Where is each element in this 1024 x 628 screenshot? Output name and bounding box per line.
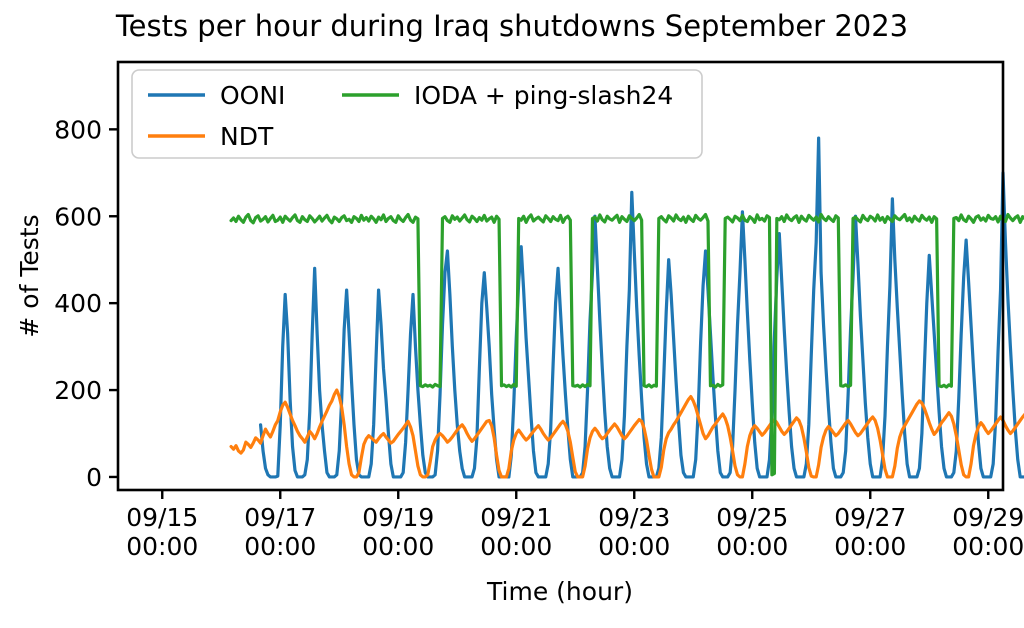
x-tick-label-date: 09/19 bbox=[362, 503, 434, 532]
plot-area: 0200400600800 09/1500:0009/1700:0009/190… bbox=[0, 0, 1024, 628]
x-tick-label-date: 09/27 bbox=[834, 503, 906, 532]
y-axis-title: # of Tests bbox=[15, 214, 44, 337]
legend-label-ioda: IODA + ping-slash24 bbox=[414, 81, 673, 110]
x-tick-label-date: 09/25 bbox=[716, 503, 788, 532]
x-tick-label-time: 00:00 bbox=[244, 532, 316, 561]
x-tick-label-time: 00:00 bbox=[480, 532, 552, 561]
y-tick-label: 400 bbox=[54, 289, 102, 318]
y-tick-label: 0 bbox=[86, 463, 102, 492]
x-tick-label-time: 00:00 bbox=[952, 532, 1024, 561]
x-tick-label-time: 00:00 bbox=[834, 532, 906, 561]
x-tick-label-time: 00:00 bbox=[362, 532, 434, 561]
y-tick-label: 800 bbox=[54, 115, 102, 144]
chart-figure: Tests per hour during Iraq shutdowns Sep… bbox=[0, 0, 1024, 628]
x-tick-label-time: 00:00 bbox=[598, 532, 670, 561]
x-tick-label-date: 09/23 bbox=[598, 503, 670, 532]
legend-label-ndt: NDT bbox=[220, 122, 274, 151]
y-axis-ticks: 0200400600800 bbox=[54, 115, 118, 492]
legend-label-ooni: OONI bbox=[220, 81, 285, 110]
x-axis-title: Time (hour) bbox=[486, 577, 633, 606]
x-tick-label-date: 09/29 bbox=[952, 503, 1024, 532]
x-tick-label-date: 09/21 bbox=[480, 503, 552, 532]
y-tick-label: 200 bbox=[54, 376, 102, 405]
x-tick-label-date: 09/17 bbox=[244, 503, 316, 532]
chart-legend[interactable]: OONI NDT IODA + ping-slash24 bbox=[132, 70, 702, 158]
x-tick-label-date: 09/15 bbox=[126, 503, 198, 532]
x-tick-label-time: 00:00 bbox=[716, 532, 788, 561]
x-axis-ticks: 09/1500:0009/1700:0009/1900:0009/2100:00… bbox=[126, 490, 1024, 561]
x-tick-label-time: 00:00 bbox=[126, 532, 198, 561]
y-tick-label: 600 bbox=[54, 202, 102, 231]
